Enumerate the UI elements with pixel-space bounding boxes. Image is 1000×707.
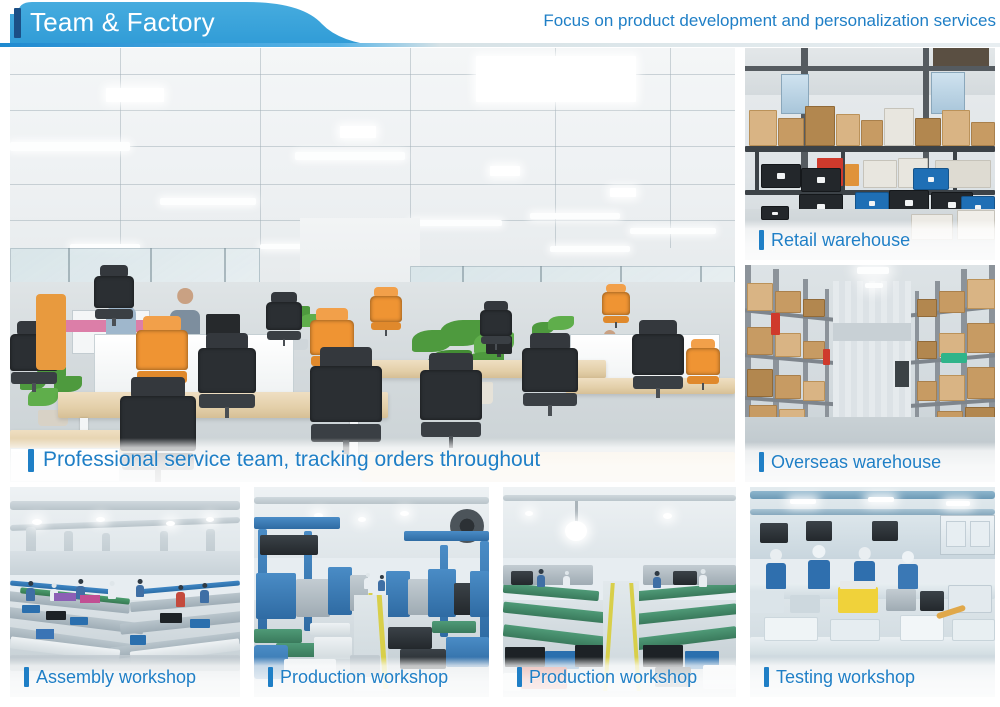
caption-main: Professional service team, tracking orde… — [10, 438, 735, 482]
office-chair — [480, 310, 512, 350]
caption-accent-bar — [28, 449, 34, 472]
header-divider — [0, 43, 1000, 47]
office-chair — [602, 292, 630, 328]
office-chair — [198, 348, 256, 418]
header-accent-bar — [14, 8, 21, 38]
gallery-retail-warehouse: Retail warehouse — [745, 48, 995, 260]
office-chair — [522, 348, 578, 416]
office-chair — [370, 296, 402, 336]
caption-accent-bar — [517, 667, 522, 687]
caption-main-text: Professional service team, tracking orde… — [43, 448, 540, 472]
caption-accent-bar — [759, 452, 764, 472]
caption-accent-bar — [764, 667, 769, 687]
office-chair — [420, 370, 482, 448]
caption-testing-workshop: Testing workshop — [750, 657, 995, 697]
caption-accent-bar — [268, 667, 273, 687]
caption-assembly-workshop-text: Assembly workshop — [36, 667, 196, 688]
caption-production-workshop-2: Production workshop — [503, 657, 736, 697]
caption-production-workshop-1: Production workshop — [254, 657, 489, 697]
office-chair — [686, 348, 720, 390]
page-header: Team & Factory Focus on product developm… — [0, 0, 1000, 47]
caption-production-workshop-2-text: Production workshop — [529, 667, 697, 688]
gallery-overseas-warehouse: Overseas warehouse — [745, 265, 995, 482]
caption-assembly-workshop: Assembly workshop — [10, 657, 240, 697]
gallery-testing-workshop: Testing workshop — [750, 487, 995, 697]
caption-accent-bar — [24, 667, 29, 687]
header-tagline: Focus on product development and persona… — [543, 10, 996, 32]
caption-retail-warehouse: Retail warehouse — [745, 220, 995, 260]
gallery-production-workshop-1: Production workshop — [254, 487, 489, 697]
office-scene — [10, 48, 735, 482]
caption-overseas-warehouse-text: Overseas warehouse — [771, 452, 941, 473]
office-chair — [36, 294, 66, 370]
caption-accent-bar — [759, 230, 764, 250]
team-factory-banner: Team & Factory Focus on product developm… — [0, 0, 1000, 707]
caption-overseas-warehouse: Overseas warehouse — [745, 442, 995, 482]
office-chair — [94, 276, 134, 326]
office-chair — [632, 334, 684, 398]
gallery-main-image: Professional service team, tracking orde… — [10, 48, 735, 482]
caption-production-workshop-1-text: Production workshop — [280, 667, 448, 688]
caption-retail-warehouse-text: Retail warehouse — [771, 230, 910, 251]
gallery-production-workshop-2: Production workshop — [503, 487, 736, 697]
caption-testing-workshop-text: Testing workshop — [776, 667, 915, 688]
page-title: Team & Factory — [30, 6, 215, 39]
office-chair — [266, 302, 302, 346]
gallery-assembly-workshop: Assembly workshop — [10, 487, 240, 697]
